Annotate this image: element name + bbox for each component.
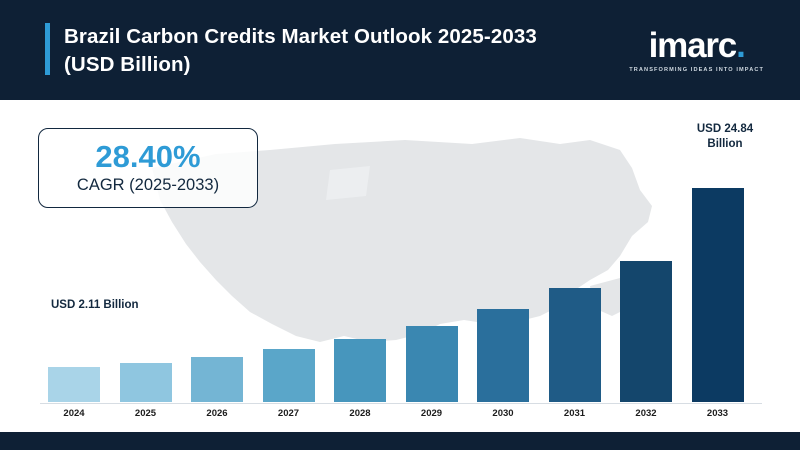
bar [263, 349, 315, 402]
x-axis-label: 2029 [406, 408, 458, 419]
bar-column [334, 147, 386, 402]
bar [334, 339, 386, 402]
bar [692, 188, 744, 402]
bar [406, 326, 458, 402]
x-axis-label: 2024 [48, 408, 100, 419]
bar [549, 288, 601, 402]
logo-wordmark: imarc. [629, 28, 764, 63]
bar-column [406, 147, 458, 402]
bar-column [120, 147, 172, 402]
bar-column [549, 147, 601, 402]
bar-series [0, 147, 800, 402]
bar-column [620, 147, 672, 402]
bar-column [692, 147, 744, 402]
bar-column [477, 147, 529, 402]
x-axis-label: 2026 [191, 408, 243, 419]
bar [477, 309, 529, 402]
title-accent-bar [45, 23, 50, 75]
logo-dot: . [736, 26, 745, 65]
chart-area: 28.40% CAGR (2025-2033) USD 2.11 Billion… [0, 100, 800, 450]
x-axis-label: 2025 [120, 408, 172, 419]
infographic-page: Brazil Carbon Credits Market Outlook 202… [0, 0, 800, 450]
bar-column [48, 147, 100, 402]
x-axis-label: 2031 [549, 408, 601, 419]
footer-strip [0, 432, 800, 450]
bar-column [263, 147, 315, 402]
title-group: Brazil Carbon Credits Market Outlook 202… [45, 23, 564, 78]
x-axis-line [40, 403, 762, 404]
x-axis-labels: 2024202520262027202820292030203120322033 [0, 408, 800, 426]
bar [191, 357, 243, 402]
x-axis-label: 2030 [477, 408, 529, 419]
x-axis-label: 2033 [692, 408, 744, 419]
header-bar: Brazil Carbon Credits Market Outlook 202… [0, 0, 800, 100]
imarc-logo: imarc. TRANSFORMING IDEAS INTO IMPACT [629, 28, 764, 73]
x-axis-label: 2032 [620, 408, 672, 419]
logo-text: imarc [649, 26, 736, 65]
x-axis-label: 2027 [263, 408, 315, 419]
bar [48, 367, 100, 402]
bar [120, 363, 172, 402]
bar-column [191, 147, 243, 402]
page-title: Brazil Carbon Credits Market Outlook 202… [64, 23, 564, 78]
x-axis-label: 2028 [334, 408, 386, 419]
bar [620, 261, 672, 402]
logo-tagline: TRANSFORMING IDEAS INTO IMPACT [629, 67, 764, 73]
